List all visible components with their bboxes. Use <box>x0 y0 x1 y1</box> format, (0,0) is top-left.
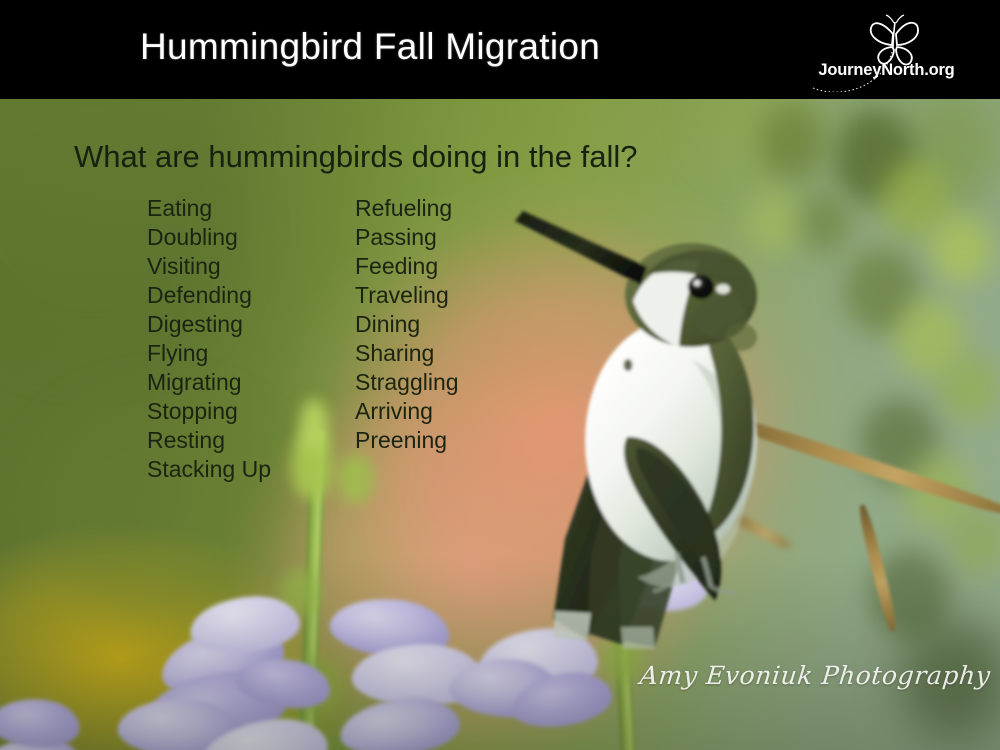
word-item: Defending <box>147 281 271 310</box>
butterfly-icon <box>799 14 974 92</box>
word-item: Dining <box>355 310 459 339</box>
word-item: Doubling <box>147 223 271 252</box>
journeynorth-logo[interactable]: JourneyNorth.org <box>799 14 974 92</box>
word-item: Resting <box>147 426 271 455</box>
question-heading: What are hummingbirds doing in the fall? <box>74 139 637 175</box>
slide-root: Amy Evoniuk Photography What are humming… <box>0 0 1000 750</box>
word-item: Stacking Up <box>147 455 271 484</box>
word-column-1: Eating Doubling Visiting Defending Diges… <box>147 194 271 484</box>
brand-wordmark: JourneyNorth.org <box>799 61 974 80</box>
word-item: Eating <box>147 194 271 223</box>
word-item: Straggling <box>355 368 459 397</box>
word-item: Digesting <box>147 310 271 339</box>
word-item: Passing <box>355 223 459 252</box>
word-item: Migrating <box>147 368 271 397</box>
word-item: Arriving <box>355 397 459 426</box>
word-item: Preening <box>355 426 459 455</box>
title-bar: Hummingbird Fall Migration JourneyNorth <box>0 0 1000 99</box>
word-column-2: Refueling Passing Feeding Traveling Dini… <box>355 194 459 455</box>
page-title: Hummingbird Fall Migration <box>140 26 600 68</box>
word-item: Traveling <box>355 281 459 310</box>
word-item: Flying <box>147 339 271 368</box>
word-item: Sharing <box>355 339 459 368</box>
word-item: Visiting <box>147 252 271 281</box>
word-item: Feeding <box>355 252 459 281</box>
slide-content: What are hummingbirds doing in the fall?… <box>0 99 1000 750</box>
word-item: Stopping <box>147 397 271 426</box>
word-item: Refueling <box>355 194 459 223</box>
